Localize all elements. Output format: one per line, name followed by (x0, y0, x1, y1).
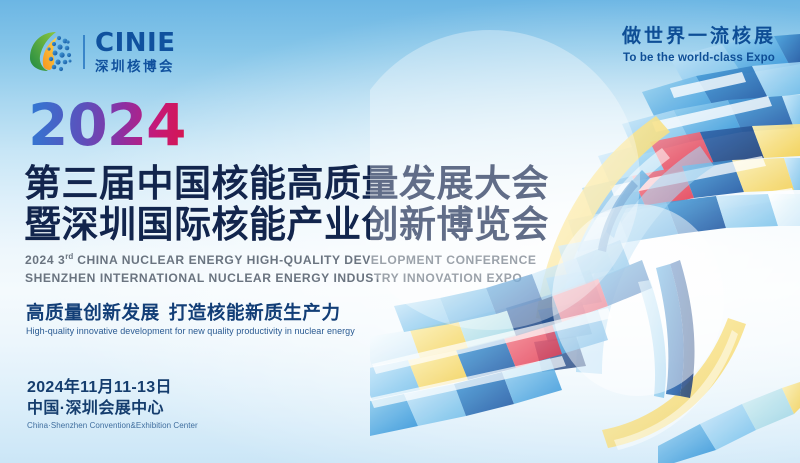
year-heading: 2024 (28, 96, 185, 154)
brand-name-cn: 深圳核博会 (95, 60, 175, 74)
tagline-en: To be the world-class Expo (622, 52, 776, 64)
logo-wordmark: CINIE 深圳核博会 (95, 30, 175, 74)
event-venue-cn: 中国·深圳会展中心 (27, 399, 198, 419)
tagline-cn: 做世界一流核展 (622, 27, 776, 48)
slogan-cn-part-2: 打造核能新质生产力 (169, 302, 341, 323)
subtitle-line-1: 2024 3rd CHINA NUCLEAR ENERGY HIGH-QUALI… (25, 251, 536, 269)
subtitle-line-1-prefix: 2024 3 (25, 253, 65, 267)
subtitle-line-1-rest: CHINA NUCLEAR ENERGY HIGH-QUALITY DEVELO… (73, 253, 536, 267)
poster-canvas: CINIE 深圳核博会 做世界一流核展 To be the world-clas… (0, 0, 800, 463)
event-details: 2024年11月11-13日 中国·深圳会展中心 China·Shenzhen … (27, 378, 198, 430)
brand-logo[interactable]: CINIE 深圳核博会 (26, 27, 175, 77)
event-date: 2024年11月11-13日 (27, 378, 198, 398)
subtitle: 2024 3rd CHINA NUCLEAR ENERGY HIGH-QUALI… (25, 251, 536, 287)
slogan-en: High-quality innovative development for … (26, 326, 355, 336)
event-venue-en: China·Shenzhen Convention&Exhibition Cen… (27, 421, 198, 430)
title-line-2: 暨深圳国际核能产业创新博览会 (24, 204, 549, 245)
tagline: 做世界一流核展 To be the world-class Expo (622, 27, 776, 64)
slogan: 高质量创新发展打造核能新质生产力 High-quality innovative… (26, 303, 355, 336)
slogan-cn: 高质量创新发展打造核能新质生产力 (26, 303, 355, 323)
slogan-cn-part-1: 高质量创新发展 (26, 302, 160, 323)
subtitle-line-2: SHENZHEN INTERNATIONAL NUCLEAR ENERGY IN… (25, 269, 536, 287)
page-title: 第三届中国核能高质量发展大会 暨深圳国际核能产业创新博览会 (24, 163, 549, 246)
logo-divider (83, 35, 85, 69)
cinie-globe-leaf-logo-icon (26, 28, 74, 76)
brand-name: CINIE (95, 30, 175, 56)
title-line-1: 第三届中国核能高质量发展大会 (24, 163, 549, 204)
